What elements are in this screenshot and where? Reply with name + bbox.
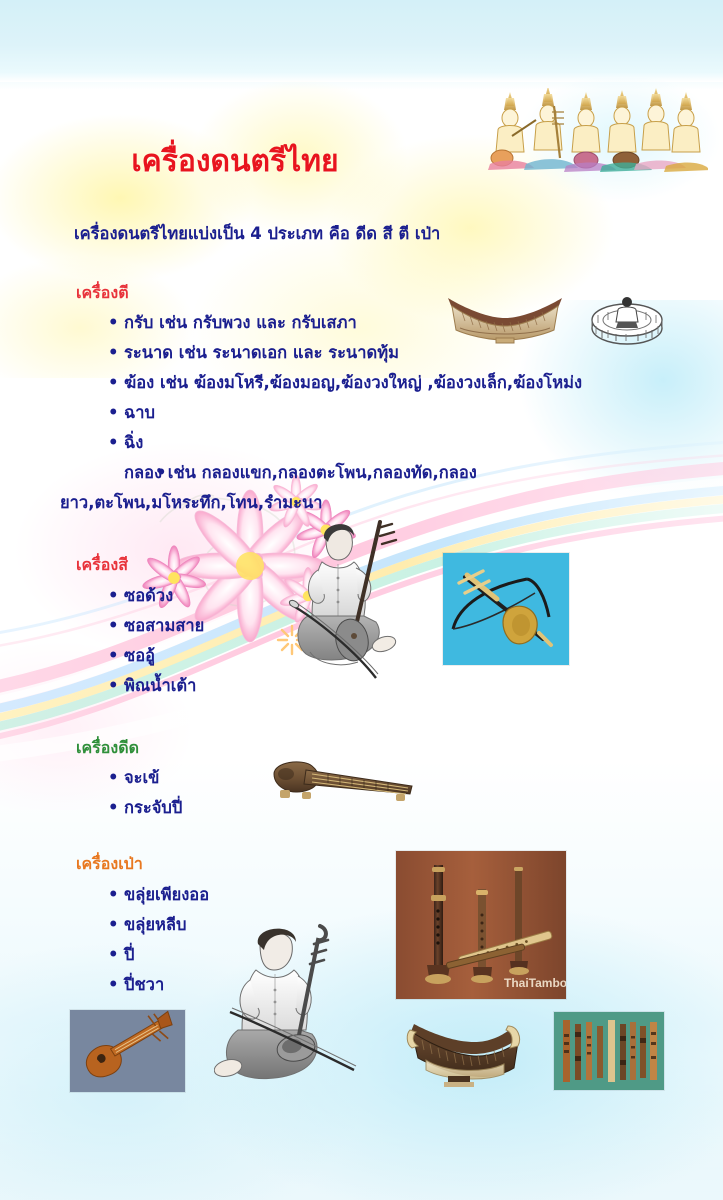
page-title: เครื่องดนตรีไทย — [0, 138, 470, 185]
bullet-icon — [108, 581, 124, 611]
section-heading-plucked: เครื่องดีด — [76, 736, 139, 761]
list-item: ซอสามสาย — [108, 611, 204, 641]
bullet-icon — [108, 970, 124, 1000]
list-item-label: ระนาด เช่น ระนาดเอก และ ระนาดทุ้ม — [124, 343, 399, 362]
bullet-icon — [108, 368, 124, 398]
bullet-icon — [108, 880, 124, 910]
list-item: ขลุ่ยเพียงออ — [108, 880, 209, 910]
list-item-label: ซอสามสาย — [124, 616, 204, 635]
list-item-label: ซอด้วง — [124, 586, 173, 605]
section-heading-wind: เครื่องเป่า — [76, 852, 143, 877]
section-list-bowed: ซอด้วง ซอสามสาย ซออู้ พิณน้ำเต้า — [108, 581, 204, 701]
bullet-icon — [108, 940, 124, 970]
list-item-label: ฉิ่ง — [124, 433, 143, 452]
bullet-icon — [108, 793, 124, 823]
list-item: ซออู้ — [108, 641, 204, 671]
list-item: กระจับปี่ — [108, 793, 182, 823]
poster-page: ThaiTambon — [0, 0, 723, 1200]
list-item: กรับ เช่น กรับพวง และ กรับเสภา — [108, 308, 672, 338]
list-item-label: ปี่ — [124, 945, 134, 964]
list-item: ปี่ชวา — [108, 970, 209, 1000]
bullet-icon — [108, 611, 124, 641]
list-item-label: พิณน้ำเต้า — [124, 676, 196, 695]
list-item-label: กรับ เช่น กรับพวง และ กรับเสภา — [124, 313, 357, 332]
list-item: ระนาด เช่น ระนาดเอก และ ระนาดทุ้ม — [108, 338, 672, 368]
list-item-label: ขลุ่ยหลีบ — [124, 915, 187, 934]
bullet-icon — [108, 428, 124, 458]
list-item-label: ฉาบ — [124, 403, 155, 422]
list-item: พิณน้ำเต้า — [108, 671, 204, 701]
bullet-icon — [108, 458, 124, 488]
list-item-label: ขลุ่ยเพียงออ — [124, 885, 209, 904]
list-item: ปี่ — [108, 940, 209, 970]
bullet-icon — [108, 910, 124, 940]
list-item: ฉิ่ง — [108, 428, 672, 458]
section-list-percussion: กรับ เช่น กรับพวง และ กรับเสภา ระนาด เช่… — [108, 308, 672, 518]
list-item-label: ซออู้ — [124, 646, 155, 665]
list-item: ฉาบ — [108, 398, 672, 428]
list-item: ซอด้วง — [108, 581, 204, 611]
list-item: จะเข้ — [108, 763, 182, 793]
page-subtitle: เครื่องดนตรีไทยแบ่งเป็น 4 ประเภท คือ ดีด… — [74, 221, 440, 247]
section-heading-bowed: เครื่องสี — [76, 553, 128, 578]
bullet-icon — [108, 641, 124, 671]
section-list-wind: ขลุ่ยเพียงออ ขลุ่ยหลีบ ปี่ ปี่ชวา — [108, 880, 209, 1000]
list-item-label: จะเข้ — [124, 768, 159, 787]
bullet-icon — [108, 338, 124, 368]
bullet-icon — [108, 398, 124, 428]
bullet-icon — [108, 763, 124, 793]
section-list-plucked: จะเข้ กระจับปี่ — [108, 763, 182, 823]
list-item-label: ฆ้อง เช่น ฆ้องมโหรี,ฆ้องมอญ,ฆ้องวงใหญ่ ,… — [124, 373, 582, 392]
list-item-label: กระจับปี่ — [124, 798, 182, 817]
bullet-icon — [108, 671, 124, 701]
section-heading-percussion: เครื่องตี — [76, 281, 129, 306]
list-item: ขลุ่ยหลีบ — [108, 910, 209, 940]
bullet-icon — [108, 308, 124, 338]
list-item: กลอง เช่น กลองแขก,กลองตะโพน,กลองทัด,กลอง… — [60, 458, 672, 518]
list-item-label: ปี่ชวา — [124, 975, 164, 994]
list-item: ฆ้อง เช่น ฆ้องมโหรี,ฆ้องมอญ,ฆ้องวงใหญ่ ,… — [108, 368, 672, 398]
